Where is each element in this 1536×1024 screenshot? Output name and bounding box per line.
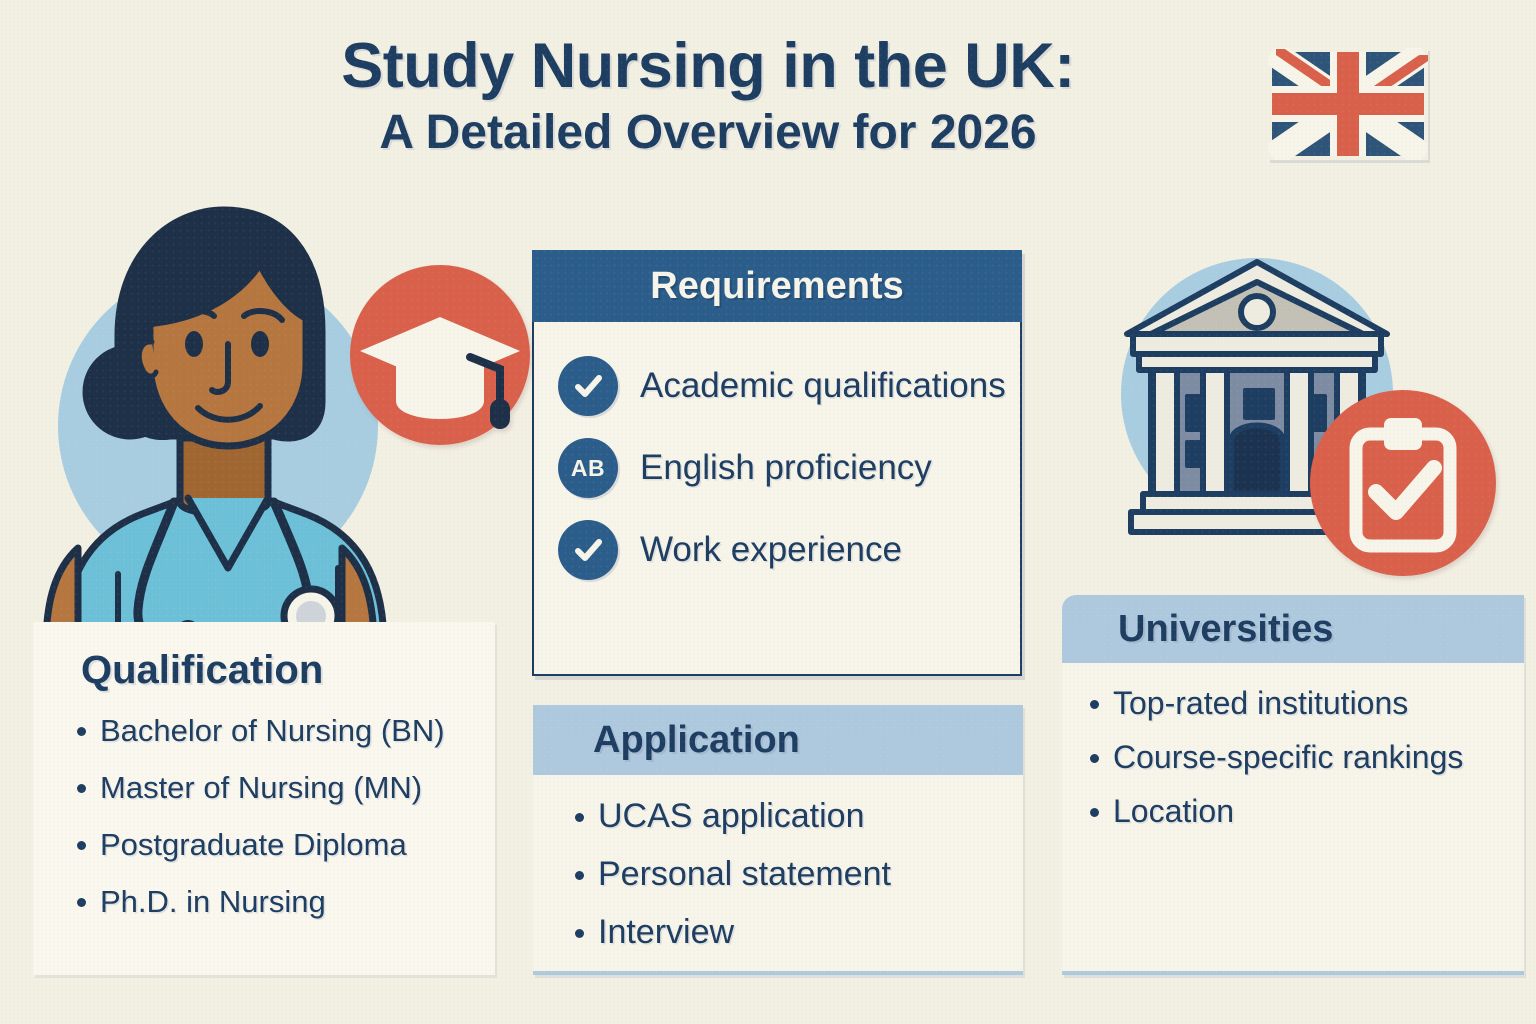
bullet-dot-icon	[77, 898, 86, 907]
ab-circle-icon: AB	[558, 438, 618, 498]
graduation-cap-icon	[350, 265, 530, 445]
list-item[interactable]: Postgraduate Diploma	[77, 827, 495, 863]
list-item[interactable]: Interview	[575, 913, 1023, 952]
check-circle-icon	[558, 520, 618, 580]
nurse-illustration	[22, 196, 402, 646]
infographic-canvas: Study Nursing in the UK: A Detailed Over…	[0, 0, 1536, 1024]
list-item[interactable]: Personal statement	[575, 855, 1023, 894]
application-header: Application	[533, 705, 1023, 775]
bullet-dot-icon	[77, 784, 86, 793]
list-item-label: Bachelor of Nursing (BN)	[100, 713, 445, 749]
bullet-dot-icon	[77, 841, 86, 850]
list-item[interactable]: Master of Nursing (MN)	[77, 770, 495, 806]
list-item-label: Master of Nursing (MN)	[100, 770, 422, 806]
bullet-dot-icon	[77, 727, 86, 736]
list-item[interactable]: Bachelor of Nursing (BN)	[77, 713, 495, 749]
requirements-list: Academic qualifications AB English profi…	[534, 322, 1020, 580]
requirement-label: Work experience	[640, 530, 902, 571]
list-item-label: Location	[1113, 793, 1234, 830]
requirements-title: Requirements	[650, 265, 903, 308]
bullet-dot-icon	[575, 929, 584, 938]
requirement-item[interactable]: AB English proficiency	[558, 438, 1020, 498]
bullet-dot-icon	[575, 813, 584, 822]
bullet-dot-icon	[1090, 754, 1099, 763]
uk-flag-icon	[1268, 48, 1428, 160]
requirements-header: Requirements	[532, 250, 1022, 322]
list-item-label: UCAS application	[598, 797, 864, 836]
list-item[interactable]: Ph.D. in Nursing	[77, 884, 495, 920]
universities-header: Universities	[1062, 595, 1524, 663]
application-title: Application	[593, 719, 800, 762]
list-item-label: Ph.D. in Nursing	[100, 884, 326, 920]
bullet-dot-icon	[1090, 700, 1099, 709]
list-item-label: Top-rated institutions	[1113, 685, 1408, 722]
list-item[interactable]: Top-rated institutions	[1090, 685, 1524, 722]
list-item[interactable]: Course-specific rankings	[1090, 739, 1524, 776]
check-circle-icon	[558, 356, 618, 416]
list-item-label: Interview	[598, 913, 734, 952]
bullet-dot-icon	[1090, 808, 1099, 817]
qualification-title: Qualification	[33, 622, 495, 693]
qualification-panel: Qualification Bachelor of Nursing (BN) M…	[33, 622, 495, 975]
list-item[interactable]: UCAS application	[575, 797, 1023, 836]
ab-icon-label: AB	[571, 455, 605, 482]
universities-panel: Universities Top-rated institutions Cour…	[1062, 595, 1524, 975]
universities-list: Top-rated institutions Course-specific r…	[1062, 663, 1524, 830]
list-item-label: Course-specific rankings	[1113, 739, 1463, 776]
requirement-item[interactable]: Academic qualifications	[558, 356, 1020, 416]
requirements-panel: Requirements Academic qualifications AB …	[532, 250, 1022, 676]
list-item[interactable]: Location	[1090, 793, 1524, 830]
list-item-label: Personal statement	[598, 855, 891, 894]
requirement-label: English proficiency	[640, 448, 932, 489]
application-list: UCAS application Personal statement Inte…	[533, 775, 1023, 952]
list-item-label: Postgraduate Diploma	[100, 827, 407, 863]
clipboard-check-icon	[1310, 390, 1496, 576]
requirement-label: Academic qualifications	[640, 366, 1006, 407]
qualification-list: Bachelor of Nursing (BN) Master of Nursi…	[33, 693, 495, 920]
requirement-item[interactable]: Work experience	[558, 520, 1020, 580]
bullet-dot-icon	[575, 871, 584, 880]
application-panel: Application UCAS application Personal st…	[533, 705, 1023, 975]
universities-title: Universities	[1118, 608, 1333, 651]
